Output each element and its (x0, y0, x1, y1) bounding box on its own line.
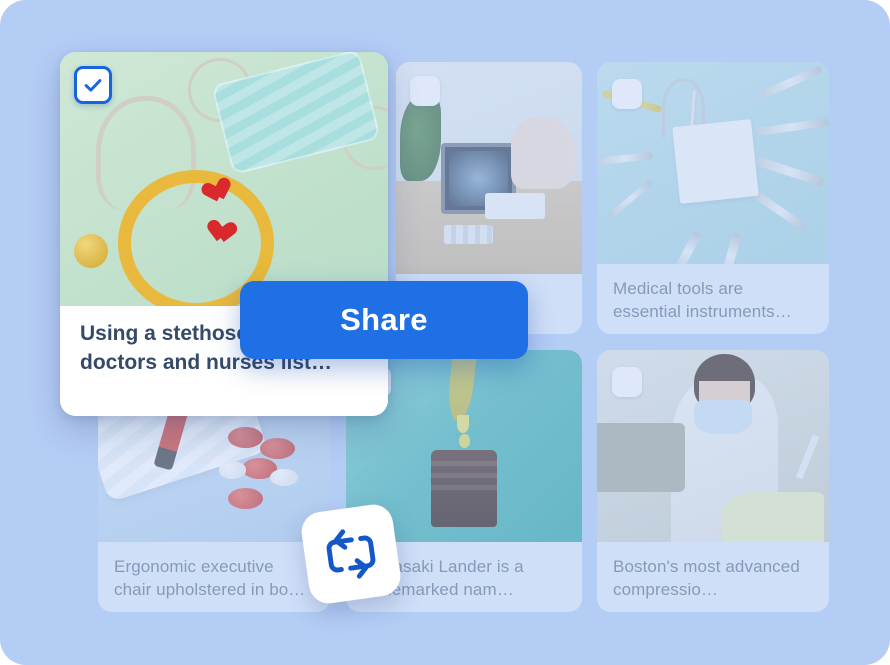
gallery-card-medical-tools[interactable]: Medical tools are essential instruments… (597, 62, 829, 334)
gallery-card-stethoscope-selected[interactable]: Using a stethoscope, doctors and nurses … (60, 52, 388, 416)
card-checkbox-unchecked[interactable] (410, 76, 440, 106)
card-caption: Medical tools are essential instruments… (597, 264, 829, 334)
card-caption: Ergonomic executive chair upholstered in… (98, 542, 330, 612)
share-button[interactable]: Share (240, 281, 528, 359)
repost-icon (319, 522, 382, 585)
gallery-card-boston-compression[interactable]: Boston's most advanced compressio… (597, 350, 829, 612)
check-icon (82, 74, 104, 96)
card-checkbox-unchecked[interactable] (612, 79, 642, 109)
card-checkbox-checked[interactable] (74, 66, 112, 104)
card-caption: Boston's most advanced compressio… (597, 542, 829, 612)
card-checkbox-unchecked[interactable] (612, 367, 642, 397)
repost-button[interactable] (299, 502, 403, 606)
gallery-stage: re… Medical tools are essential instrume… (0, 0, 890, 665)
